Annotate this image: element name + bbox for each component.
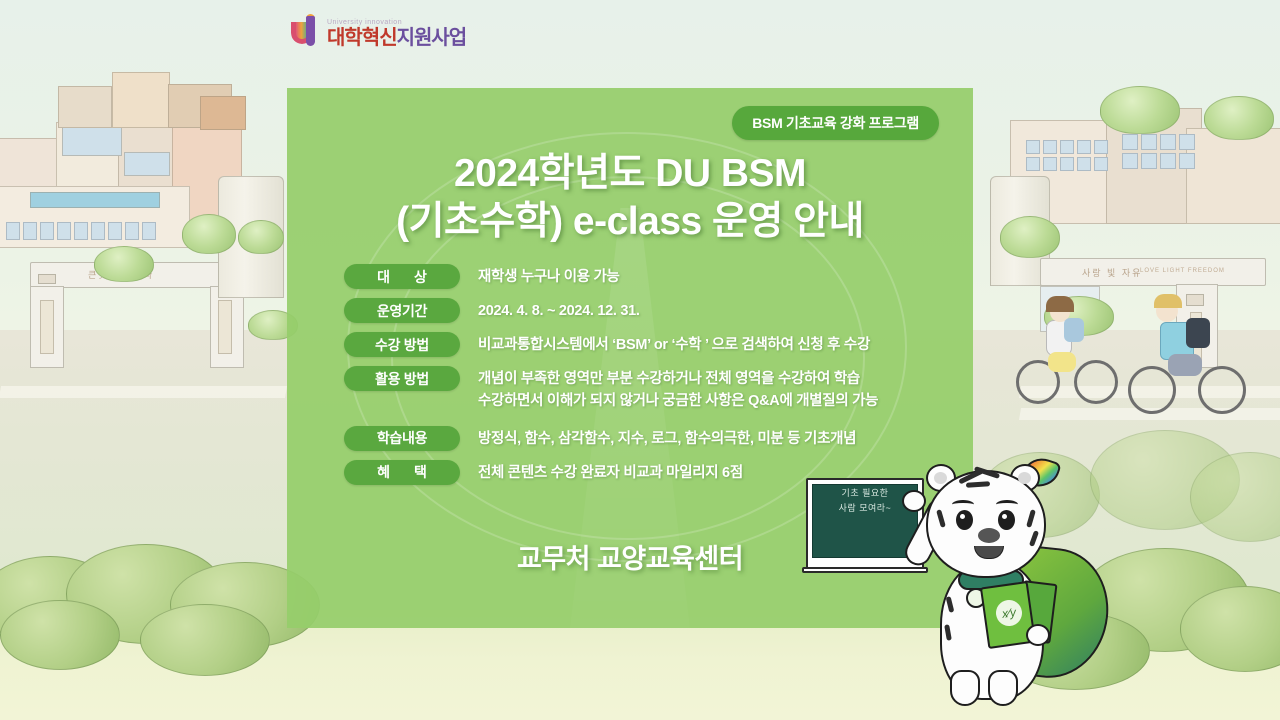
bicycle-wheel (1128, 366, 1176, 414)
window (23, 222, 37, 240)
window (6, 222, 20, 240)
info-value-benefit: 전체 콘텐츠 수강 완료자 비교과 마일리지 6점 (478, 460, 743, 484)
info-row-content: 학습내용 방정식, 함수, 삼각함수, 지수, 로그, 함수의극한, 미분 등 … (344, 426, 944, 451)
window (1141, 153, 1157, 169)
info-label-target: 대 상 (344, 264, 460, 289)
window (1077, 140, 1091, 154)
info-row-target: 대 상 재학생 누구나 이용 가능 (344, 264, 944, 289)
mascot-eyebrow (952, 500, 974, 509)
info-label-usage: 활용 방법 (344, 366, 460, 391)
building (200, 96, 246, 130)
logo-j-shape-icon (306, 16, 315, 46)
info-value-period: 2024. 4. 8. ~ 2024. 12. 31. (478, 298, 640, 322)
info-table: 대 상 재학생 누구나 이용 가능 운영기간 2024. 4. 8. ~ 202… (344, 264, 944, 494)
cyclist-hair (1046, 296, 1074, 312)
tree (182, 214, 236, 254)
window (91, 222, 105, 240)
bicycle-wheel (1198, 366, 1246, 414)
window (1141, 134, 1157, 150)
tree (1000, 216, 1060, 258)
mascot-raised-hand (902, 490, 926, 512)
window (1060, 140, 1074, 154)
building (58, 86, 112, 128)
mascot-leg (988, 670, 1018, 706)
mascot-leg (950, 670, 980, 706)
info-row-period: 운영기간 2024. 4. 8. ~ 2024. 12. 31. (344, 298, 944, 323)
cyclist-backpack (1064, 318, 1084, 342)
mascot-eye (998, 510, 1015, 530)
bicycle-wheel (1074, 360, 1118, 404)
window (1179, 153, 1195, 169)
cyclist-legs (1048, 352, 1076, 372)
window (1122, 153, 1138, 169)
bush (140, 604, 270, 676)
info-row-enrollment: 수강 방법 비교과통합시스템에서 ‘BSM’ or ‘수학 ’ 으로 검색하여 … (344, 332, 944, 357)
info-label-content: 학습내용 (344, 426, 460, 451)
title-line-1: 2024학년도 DU BSM (287, 150, 973, 198)
mascot-inner-ear (934, 472, 947, 484)
gate-plaque (40, 300, 54, 354)
info-value-usage: 개념이 부족한 영역만 부분 수강하거나 전체 영역을 수강하여 학습 수강하면… (478, 366, 878, 413)
info-value-target: 재학생 누구나 이용 가능 (478, 264, 620, 288)
window (125, 222, 139, 240)
tree (94, 246, 154, 282)
road-marking (0, 386, 287, 398)
window (1060, 157, 1074, 171)
mascot-eye-highlight (960, 514, 965, 519)
info-value-usage-line1: 개념이 부족한 영역만 부분 수강하거나 전체 영역을 수강하여 학습 (478, 368, 878, 390)
title-line-2: (기초수학) e-class 운영 안내 (287, 198, 973, 246)
info-label-period: 운영기간 (344, 298, 460, 323)
logo-text-block: University innovation 대학혁신지원사업 (327, 19, 466, 48)
window-grid (1122, 134, 1195, 169)
info-label-benefit: 혜 택 (344, 460, 460, 485)
building-window-band (62, 126, 122, 156)
window (1026, 157, 1040, 171)
cyclist-legs (1168, 354, 1202, 376)
mascot-eye (956, 510, 973, 530)
bush (0, 600, 120, 670)
info-row-usage: 활용 방법 개념이 부족한 영역만 부분 수강하거나 전체 영역을 수강하여 학… (344, 366, 944, 413)
window (1026, 140, 1040, 154)
logo-english-text: University innovation (327, 19, 466, 26)
logo-korean-part2: 지원사업 (397, 27, 467, 49)
info-label-enrollment: 수강 방법 (344, 332, 460, 357)
window (1179, 134, 1195, 150)
window (1043, 140, 1057, 154)
university-innovation-logo: University innovation 대학혁신지원사업 (291, 16, 466, 50)
window (1094, 140, 1108, 154)
logo-mark-icon (291, 16, 321, 50)
mascot-nose (978, 528, 1000, 543)
window (1043, 157, 1057, 171)
poster-canvas: 큰뜻을 품어라 사랑 빛 자유 LOVE LIGHT FREEDOM (0, 0, 1280, 720)
info-value-content: 방정식, 함수, 삼각함수, 지수, 로그, 함수의극한, 미분 등 기초개념 (478, 426, 856, 450)
window (1122, 134, 1138, 150)
logo-korean-text: 대학혁신지원사업 (327, 28, 466, 48)
right-gate-sign-korean: 사랑 빛 자유 (1082, 266, 1142, 279)
page-title: 2024학년도 DU BSM (기초수학) e-class 운영 안내 (287, 150, 973, 245)
window (108, 222, 122, 240)
window (74, 222, 88, 240)
mascot-hand-holding-book (1026, 624, 1050, 646)
mascot-eyebrow (996, 500, 1018, 509)
building-window-band (30, 192, 160, 208)
window-grid (1026, 140, 1108, 171)
window-grid (6, 222, 156, 240)
mascot-eye-highlight (1002, 514, 1007, 519)
logo-korean-part1: 대학혁신 (327, 27, 397, 49)
info-value-usage-line2: 수강하면서 이해가 되지 않거나 궁금한 사항은 Q&A에 개별질의 가능 (478, 390, 878, 412)
cyclist-hair (1154, 294, 1182, 308)
window (1077, 157, 1091, 171)
tree (1204, 96, 1274, 140)
building (112, 72, 170, 128)
window (1160, 153, 1176, 169)
gate-emblem (38, 274, 56, 284)
info-value-enrollment: 비교과통합시스템에서 ‘BSM’ or ‘수학 ’ 으로 검색하여 신청 후 수… (478, 332, 870, 356)
window (1094, 157, 1108, 171)
tree (238, 220, 284, 254)
building (1186, 128, 1280, 224)
window (57, 222, 71, 240)
window (142, 222, 156, 240)
mascot-inner-ear (1018, 472, 1031, 484)
tree (1100, 86, 1180, 134)
window (40, 222, 54, 240)
cyclist-backpack (1186, 318, 1210, 348)
tiger-mascot: x⁄y (900, 452, 1130, 720)
window (1160, 134, 1176, 150)
gate-emblem (1186, 294, 1204, 306)
gate-plaque (218, 300, 232, 354)
right-gate-sign-english: LOVE LIGHT FREEDOM (1140, 268, 1225, 274)
program-badge: BSM 기초교육 강화 프로그램 (732, 106, 939, 140)
building-window-band (124, 152, 170, 176)
